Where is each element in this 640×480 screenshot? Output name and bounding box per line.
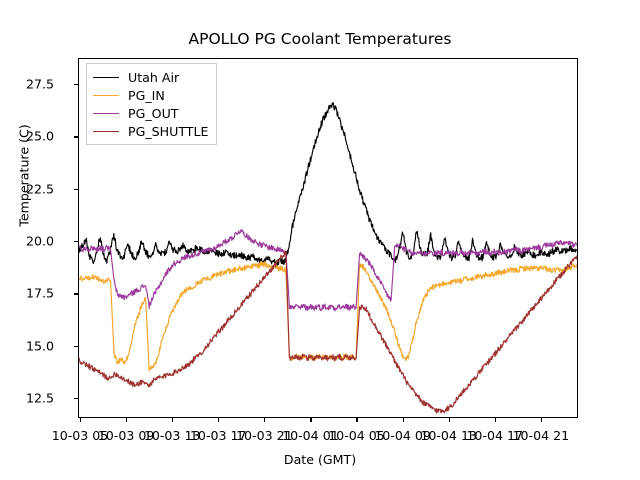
- y-tick-label: 27.5: [0, 77, 54, 92]
- x-tick-mark: [356, 418, 357, 422]
- x-axis-label: Date (GMT): [0, 452, 640, 467]
- y-tick-label: 12.5: [0, 391, 54, 406]
- series-line-pg-shuttle: [79, 251, 577, 413]
- y-tick-label: 25.0: [0, 129, 54, 144]
- y-tick-mark: [74, 189, 78, 190]
- legend-line-swatch: [93, 113, 119, 114]
- x-tick-mark: [403, 418, 404, 422]
- legend-line-swatch: [93, 95, 119, 96]
- matplotlib-figure: APOLLO PG Coolant Temperatures Temperatu…: [0, 0, 640, 480]
- legend-line-swatch: [93, 131, 119, 132]
- legend-label: PG_IN: [128, 88, 165, 103]
- legend-item-utah-air[interactable]: Utah Air: [93, 68, 208, 86]
- x-tick-mark: [495, 418, 496, 422]
- y-axis-label: Temperature (C): [17, 26, 32, 326]
- page-title: APOLLO PG Coolant Temperatures: [0, 30, 640, 48]
- y-tick-mark: [74, 293, 78, 294]
- x-tick-mark: [126, 418, 127, 422]
- y-tick-mark: [74, 346, 78, 347]
- x-tick-mark: [264, 418, 265, 422]
- y-tick-mark: [74, 241, 78, 242]
- x-tick-mark: [218, 418, 219, 422]
- y-tick-mark: [74, 84, 78, 85]
- y-tick-mark: [74, 398, 78, 399]
- legend-item-pg-out[interactable]: PG_OUT: [93, 104, 208, 122]
- x-tick-label: 10-04 21: [513, 428, 570, 443]
- y-tick-label: 22.5: [0, 181, 54, 196]
- chart-legend: Utah AirPG_INPG_OUTPG_SHUTTLE: [86, 63, 217, 145]
- x-tick-mark: [172, 418, 173, 422]
- series-line-pg-in: [79, 261, 577, 370]
- y-tick-label: 20.0: [0, 234, 54, 249]
- y-tick-label: 15.0: [0, 338, 54, 353]
- legend-label: PG_OUT: [128, 106, 178, 121]
- legend-item-pg-in[interactable]: PG_IN: [93, 86, 208, 104]
- y-tick-label: 17.5: [0, 286, 54, 301]
- legend-label: Utah Air: [128, 70, 179, 85]
- x-tick-mark: [449, 418, 450, 422]
- y-tick-mark: [74, 136, 78, 137]
- x-tick-mark: [310, 418, 311, 422]
- legend-label: PG_SHUTTLE: [128, 124, 208, 139]
- x-tick-mark: [541, 418, 542, 422]
- x-tick-mark: [80, 418, 81, 422]
- legend-item-pg-shuttle[interactable]: PG_SHUTTLE: [93, 122, 208, 140]
- legend-line-swatch: [93, 77, 119, 78]
- series-line-pg-out: [79, 230, 577, 311]
